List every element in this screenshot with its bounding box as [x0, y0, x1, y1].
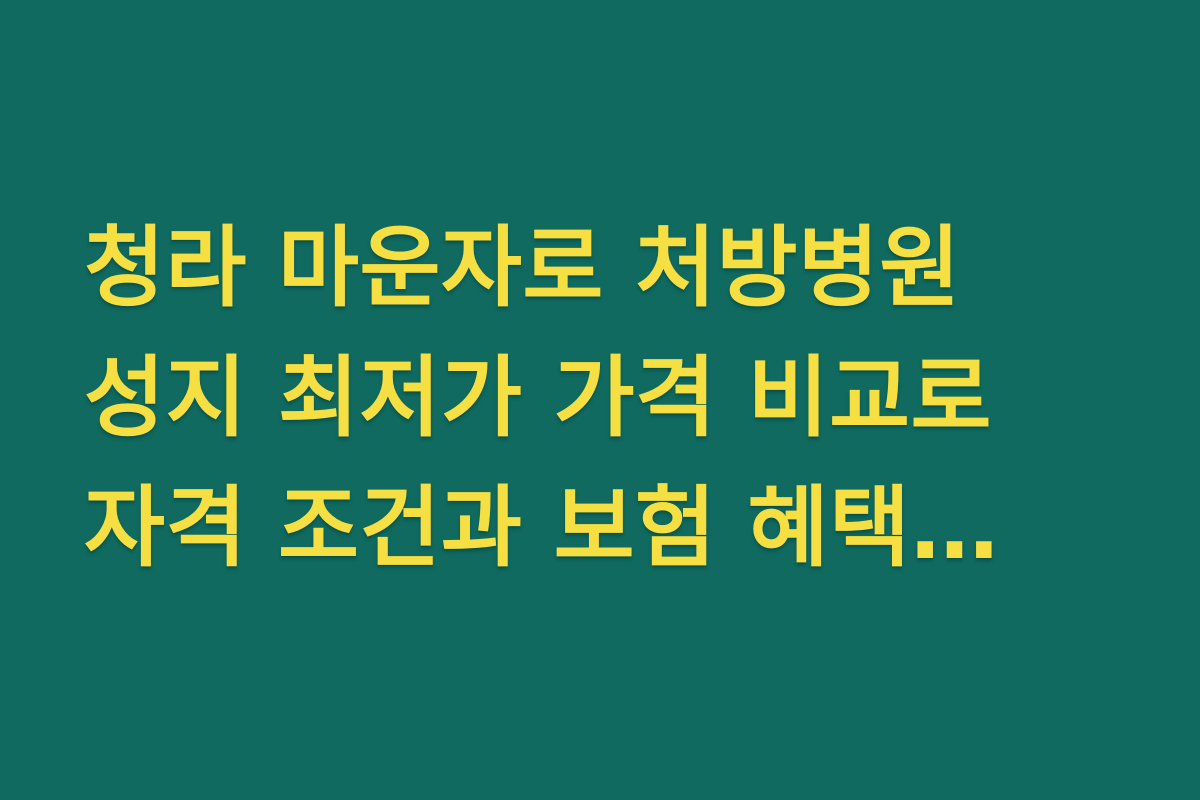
- headline-line-3: 자격 조건과 보험 혜택…: [84, 463, 999, 593]
- text-card-canvas: 청라 마운자로 처방병원 성지 최저가 가격 비교로 자격 조건과 보험 혜택…: [0, 0, 1200, 800]
- headline-block: 청라 마운자로 처방병원 성지 최저가 가격 비교로 자격 조건과 보험 혜택…: [84, 203, 999, 593]
- headline-line-2: 성지 최저가 가격 비교로: [84, 333, 992, 463]
- headline-line-1: 청라 마운자로 처방병원: [84, 203, 961, 333]
